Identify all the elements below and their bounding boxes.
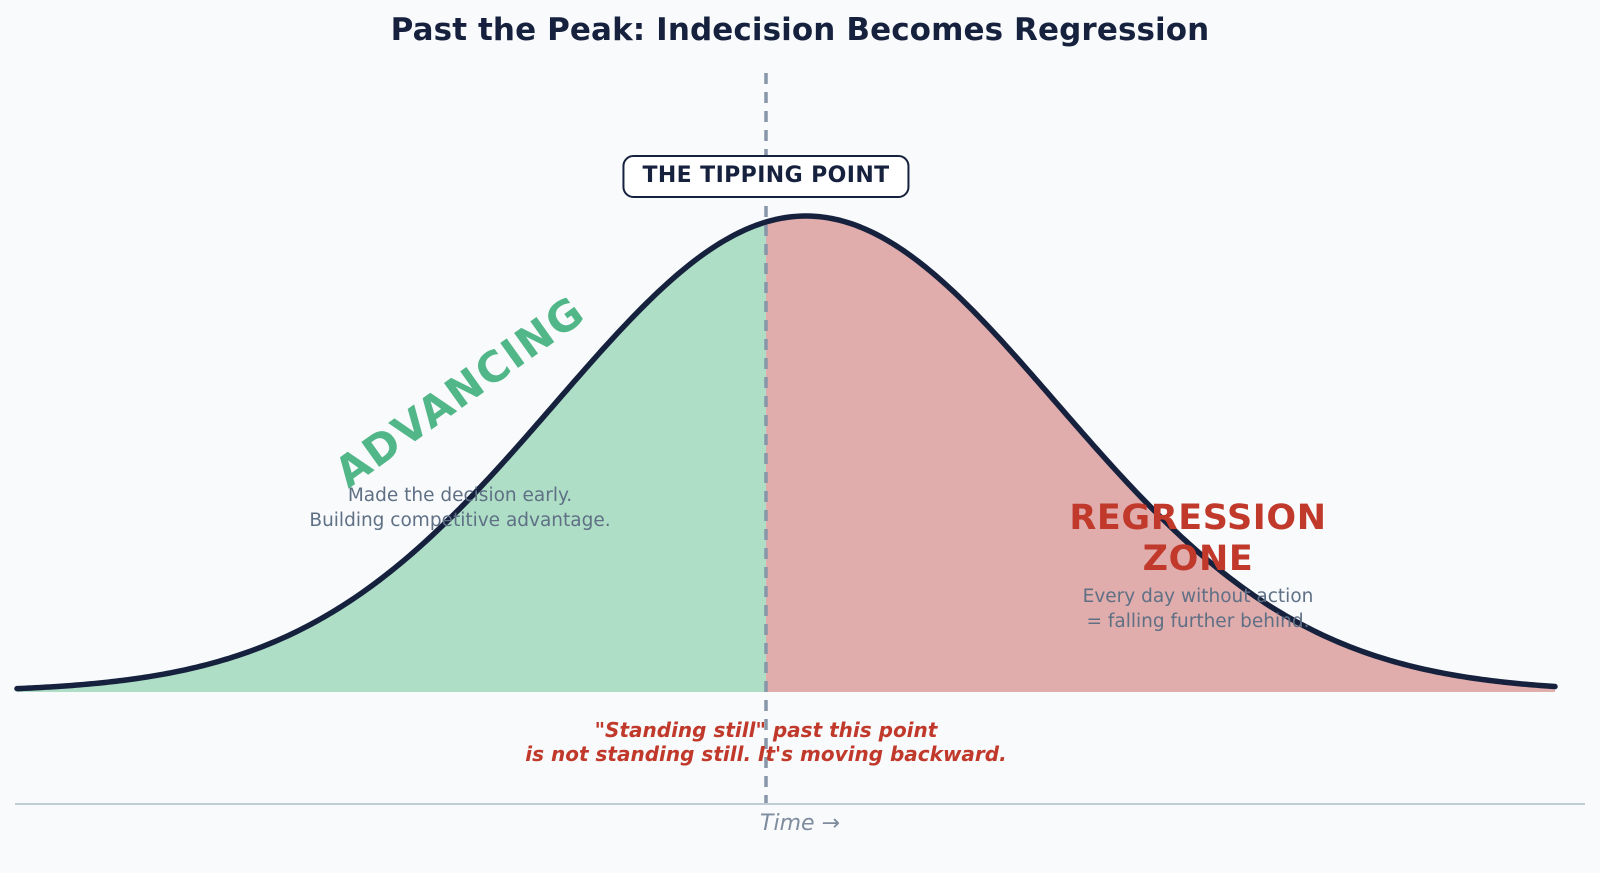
page-title: Past the Peak: Indecision Becomes Regres…: [0, 12, 1600, 49]
regression-zone-label: REGRESSION ZONE: [918, 498, 1478, 580]
tipping-point-badge: THE TIPPING POINT: [622, 155, 909, 198]
chart-canvas: Past the Peak: Indecision Becomes Regres…: [0, 0, 1600, 873]
advancing-zone-description: Made the decision early. Building compet…: [200, 483, 720, 533]
x-axis-label: Time →: [760, 813, 840, 835]
regression-zone-description: Every day without action = falling furth…: [918, 584, 1478, 634]
warning-note: "Standing still" past this point is not …: [316, 719, 1216, 766]
